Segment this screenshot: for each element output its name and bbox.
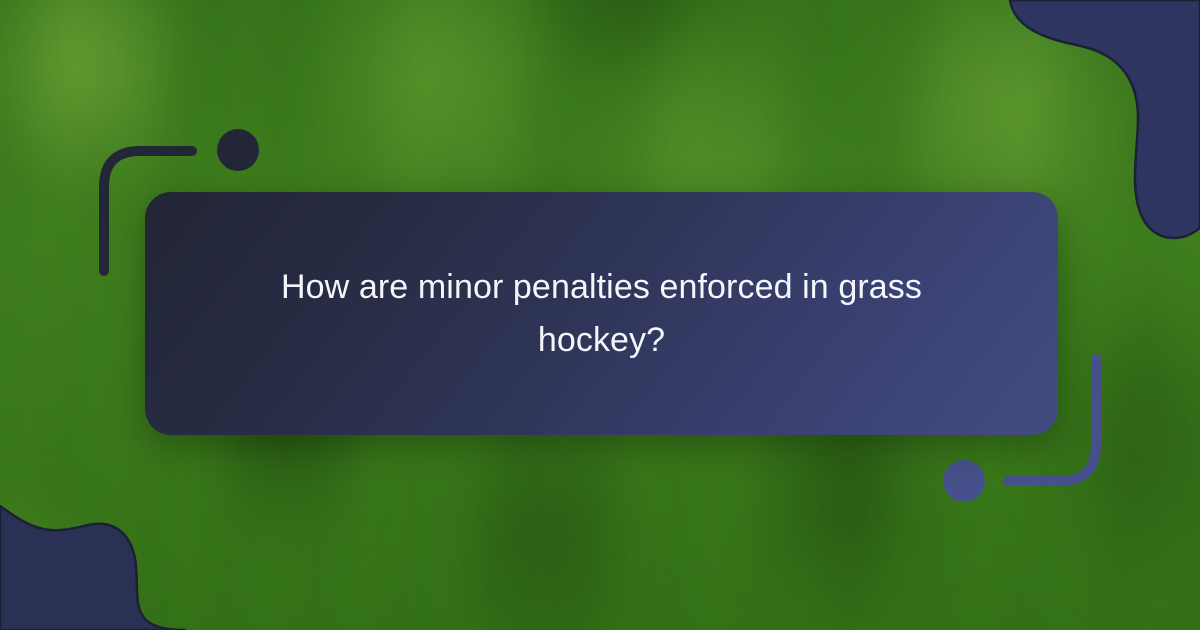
question-card-graphic: How are minor penalties enforced in gras…	[0, 0, 1200, 630]
question-card: How are minor penalties enforced in gras…	[145, 192, 1058, 435]
question-text: How are minor penalties enforced in gras…	[222, 261, 982, 366]
